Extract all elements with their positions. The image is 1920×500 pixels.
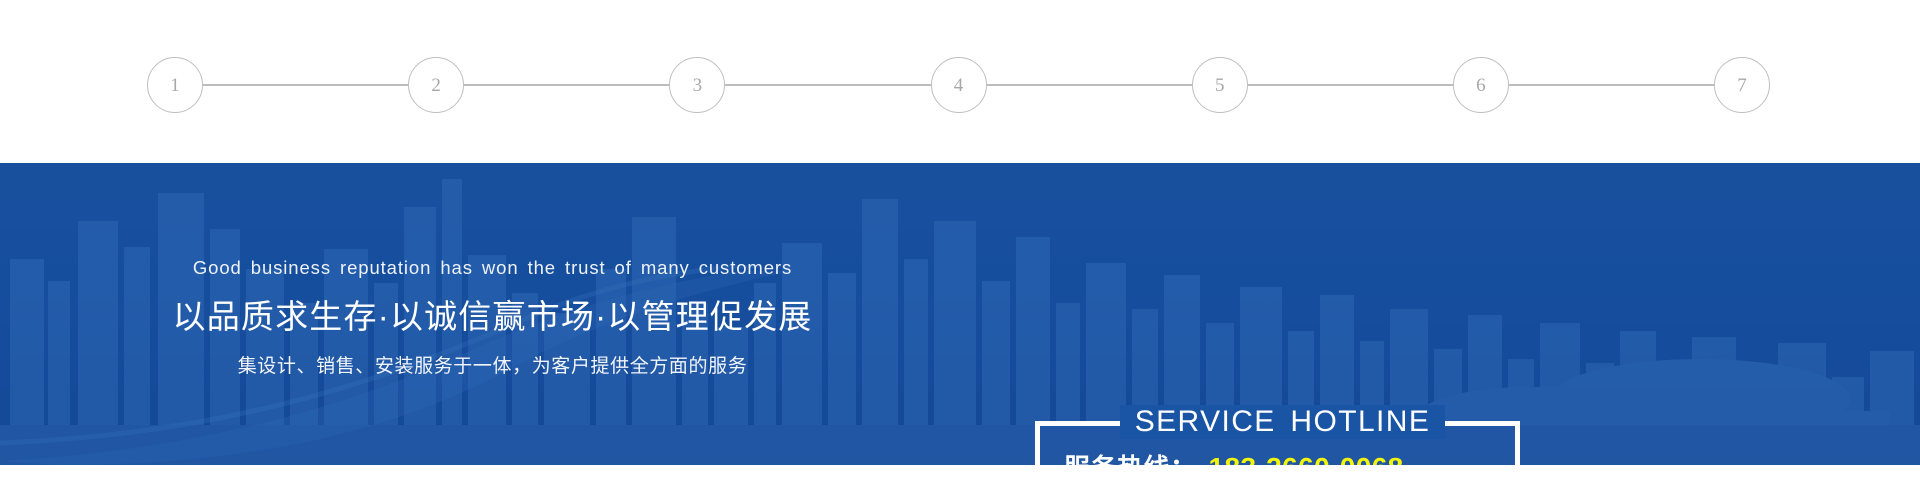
stepper-node-label: 1	[170, 76, 180, 95]
hotline-row-primary: 服务热线： 183-2660-0068	[1064, 448, 1525, 465]
hotline-box: SERVICE HOTLINE 服务热线： 183-2660-0068 0551…	[1035, 421, 1520, 465]
stepper-node-6[interactable]: 6	[1453, 57, 1509, 113]
stepper-connector	[1508, 84, 1715, 86]
stepper-node-4[interactable]: 4	[931, 57, 987, 113]
stepper-node-7[interactable]: 7	[1714, 57, 1770, 113]
stepper-connector	[463, 84, 670, 86]
stepper-node-label: 2	[431, 76, 441, 95]
stepper-node-label: 4	[954, 76, 964, 95]
stepper-node-label: 5	[1215, 76, 1225, 95]
stepper-node-3[interactable]: 3	[669, 57, 725, 113]
stepper-node-1[interactable]: 1	[147, 57, 203, 113]
stepper-node-label: 6	[1476, 76, 1486, 95]
stepper-node-2[interactable]: 2	[408, 57, 464, 113]
stepper-connector	[724, 84, 931, 86]
stepper-connector	[986, 84, 1193, 86]
stepper-connector	[202, 84, 409, 86]
stepper-track: 1 2 3 4 5 6 7	[147, 57, 1770, 113]
stepper-section: 1 2 3 4 5 6 7	[0, 0, 1920, 163]
stepper-node-label: 7	[1737, 76, 1747, 95]
slogan-headline: 以品质求生存·以诚信赢市场·以管理促发展	[173, 290, 813, 338]
stepper-connector	[1247, 84, 1454, 86]
slogan-block: Good business reputation has won the tru…	[0, 163, 985, 465]
hotline-number-primary[interactable]: 183-2660-0068	[1209, 448, 1404, 465]
hotline-numbers-list: 服务热线： 183-2660-0068 0551-63749777	[1040, 448, 1525, 465]
hotline-label: 服务热线：	[1064, 448, 1197, 465]
promo-banner: Good business reputation has won the tru…	[0, 163, 1920, 465]
slogan-subtitle: 集设计、销售、安装服务于一体，为客户提供全方面的服务	[238, 351, 748, 378]
bottom-white-strip	[0, 465, 1920, 500]
stepper-node-5[interactable]: 5	[1192, 57, 1248, 113]
slogan-english: Good business reputation has won the tru…	[193, 257, 792, 279]
stepper-node-label: 3	[693, 76, 703, 95]
